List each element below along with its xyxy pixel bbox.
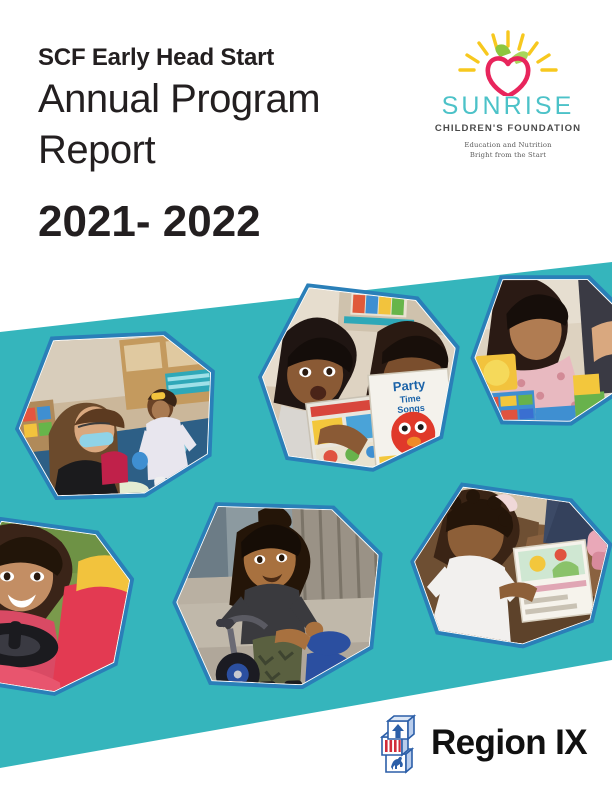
photo-caregiver-with-blocks [465, 267, 612, 433]
photo-teacher-and-toddler [6, 320, 228, 510]
sun-apple-heart-icon [438, 30, 578, 96]
photo-image: Party Time Songs [259, 286, 458, 471]
program-name: SCF Early Head Start [38, 44, 428, 72]
logo-tagline-line1: Education and Nutrition [428, 141, 588, 151]
svg-text:Party: Party [392, 376, 426, 394]
stacked-toy-blocks-icon [380, 710, 422, 774]
report-year: 2021- 2022 [38, 198, 428, 246]
logo-tagline-line2: Bright from the Start [428, 151, 588, 161]
photo-children-reading-book: Party Time Songs [253, 281, 462, 476]
page-title: Annual Program Report [38, 74, 428, 176]
logo-subtitle: CHILDREN'S FOUNDATION [428, 123, 588, 134]
photo-girl-reading-on-couch [403, 479, 612, 656]
photo-child-in-ride-on-car [0, 514, 138, 701]
region-label: Region IX [431, 725, 587, 760]
cover-header: SCF Early Head Start Annual Program Repo… [0, 0, 612, 270]
photo-image [0, 519, 133, 695]
report-cover-page: Party Time Songs [0, 0, 612, 792]
photo-image [409, 484, 611, 650]
region-ix-footer: Region IX [380, 710, 587, 774]
sunrise-childrens-foundation-logo: SUNRISE CHILDREN'S FOUNDATION Education … [428, 30, 588, 161]
photo-boy-on-tricycle [169, 496, 388, 693]
photo-image [11, 325, 222, 505]
logo-wordmark: SUNRISE [428, 94, 588, 119]
photo-image [174, 502, 382, 689]
photo-image [470, 272, 612, 427]
title-block: SCF Early Head Start Annual Program Repo… [38, 44, 428, 246]
logo-tagline: Education and Nutrition Bright from the … [428, 141, 588, 161]
